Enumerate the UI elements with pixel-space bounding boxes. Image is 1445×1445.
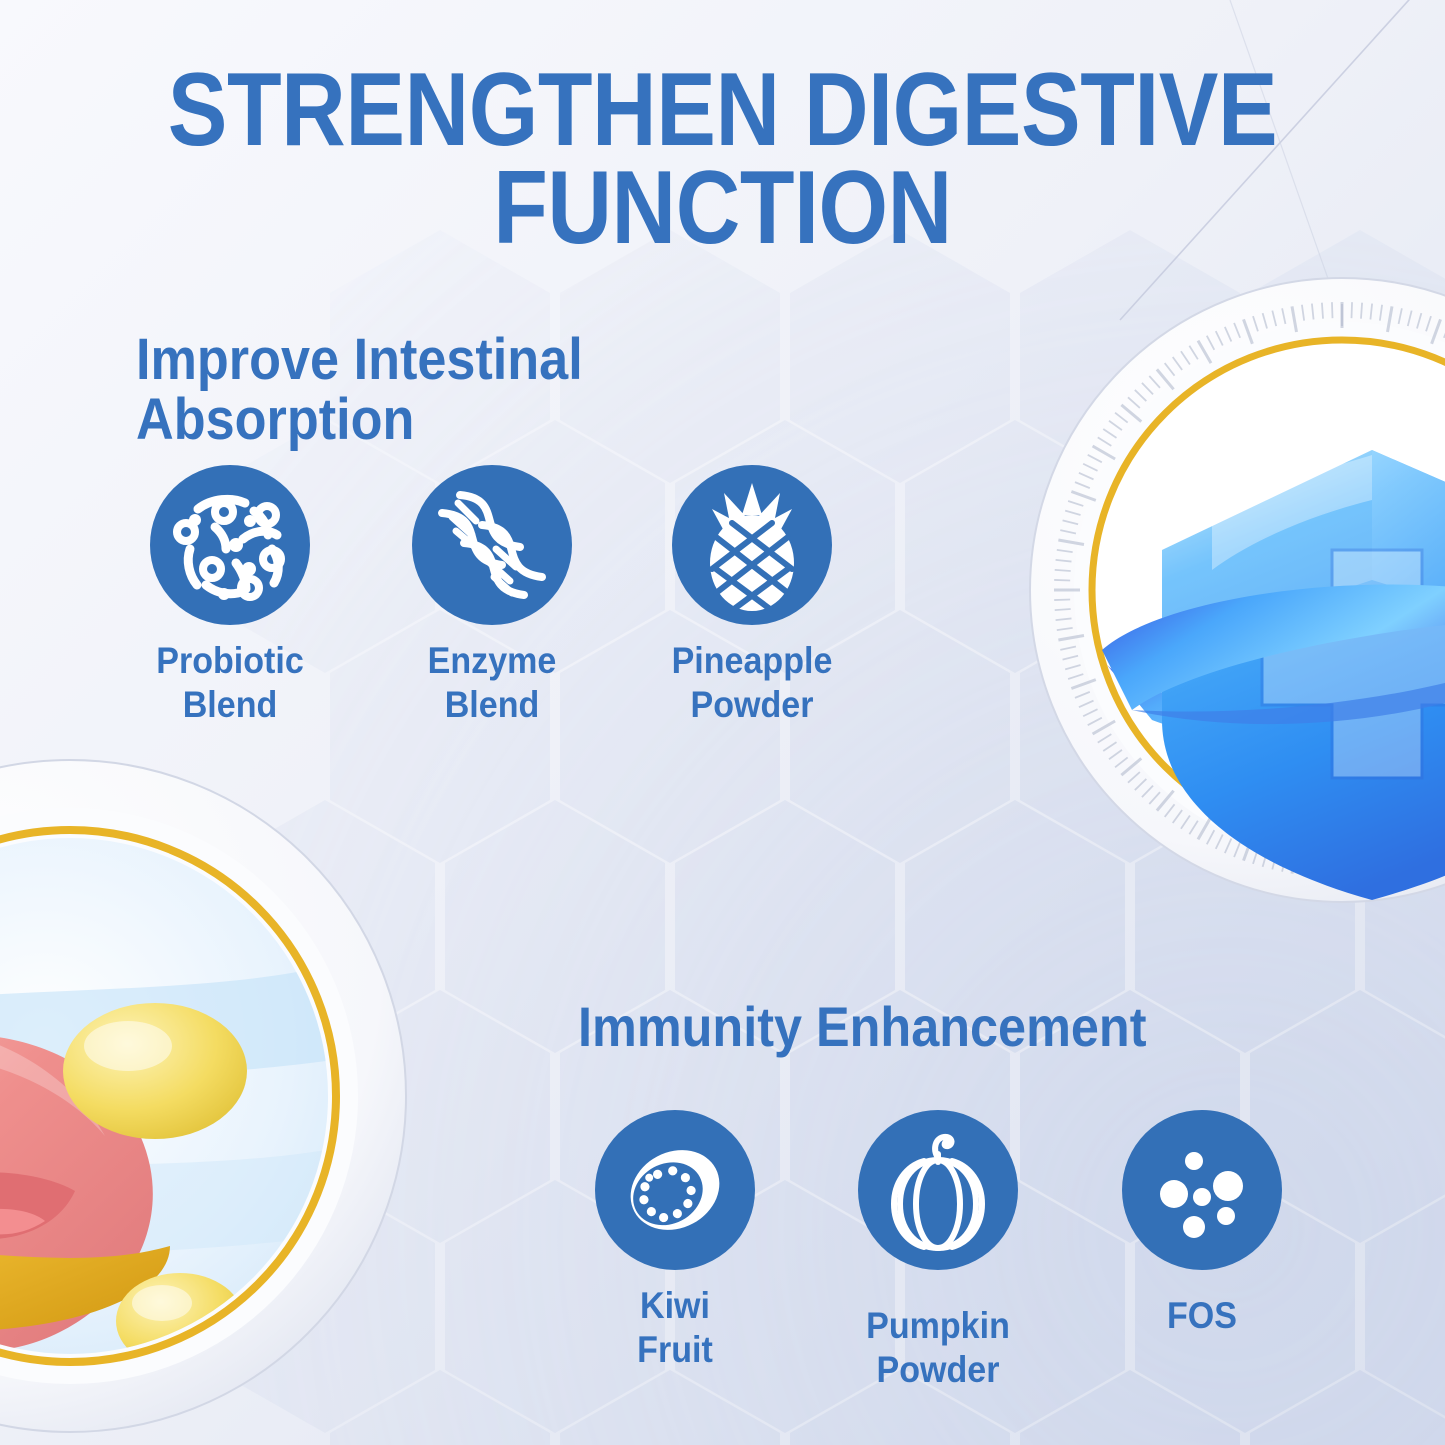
ingredient-item-fos[interactable]: FOS (1102, 1110, 1302, 1338)
stomach-illustration (0, 726, 440, 1445)
ingredient-label: FOS (1110, 1294, 1294, 1338)
ingredient-label: Enzyme Blend (400, 639, 584, 726)
pumpkin-icon (858, 1110, 1018, 1270)
immunity-shield-illustration (1012, 250, 1445, 970)
section-heading-absorption: Improve Intestinal Absorption (136, 330, 583, 451)
dna-helix-icon (412, 465, 572, 625)
product-infographic-poster: STRENGTHEN DIGESTIVE FUNCTION (0, 0, 1445, 1445)
probiotic-bacteria-icon (150, 465, 310, 625)
ingredient-item-probiotic[interactable]: Probiotic Blend (130, 465, 330, 726)
section-heading-immunity: Immunity Enhancement (578, 998, 1147, 1056)
page-title: STRENGTHEN DIGESTIVE FUNCTION (101, 62, 1344, 258)
ingredient-item-enzyme[interactable]: Enzyme Blend (392, 465, 592, 726)
ingredient-label: Pineapple Powder (660, 639, 844, 726)
ingredient-item-kiwi[interactable]: Kiwi Fruit (575, 1110, 775, 1371)
kiwi-fruit-icon (595, 1110, 755, 1270)
ingredient-label: Pumpkin Powder (846, 1304, 1030, 1391)
ingredient-item-pineapple[interactable]: Pineapple Powder (652, 465, 852, 726)
molecule-dots-icon (1122, 1110, 1282, 1270)
pineapple-icon (672, 465, 832, 625)
ingredient-item-pumpkin[interactable]: Pumpkin Powder (838, 1110, 1038, 1391)
ingredient-label: Kiwi Fruit (583, 1284, 767, 1371)
ingredient-label: Probiotic Blend (138, 639, 322, 726)
